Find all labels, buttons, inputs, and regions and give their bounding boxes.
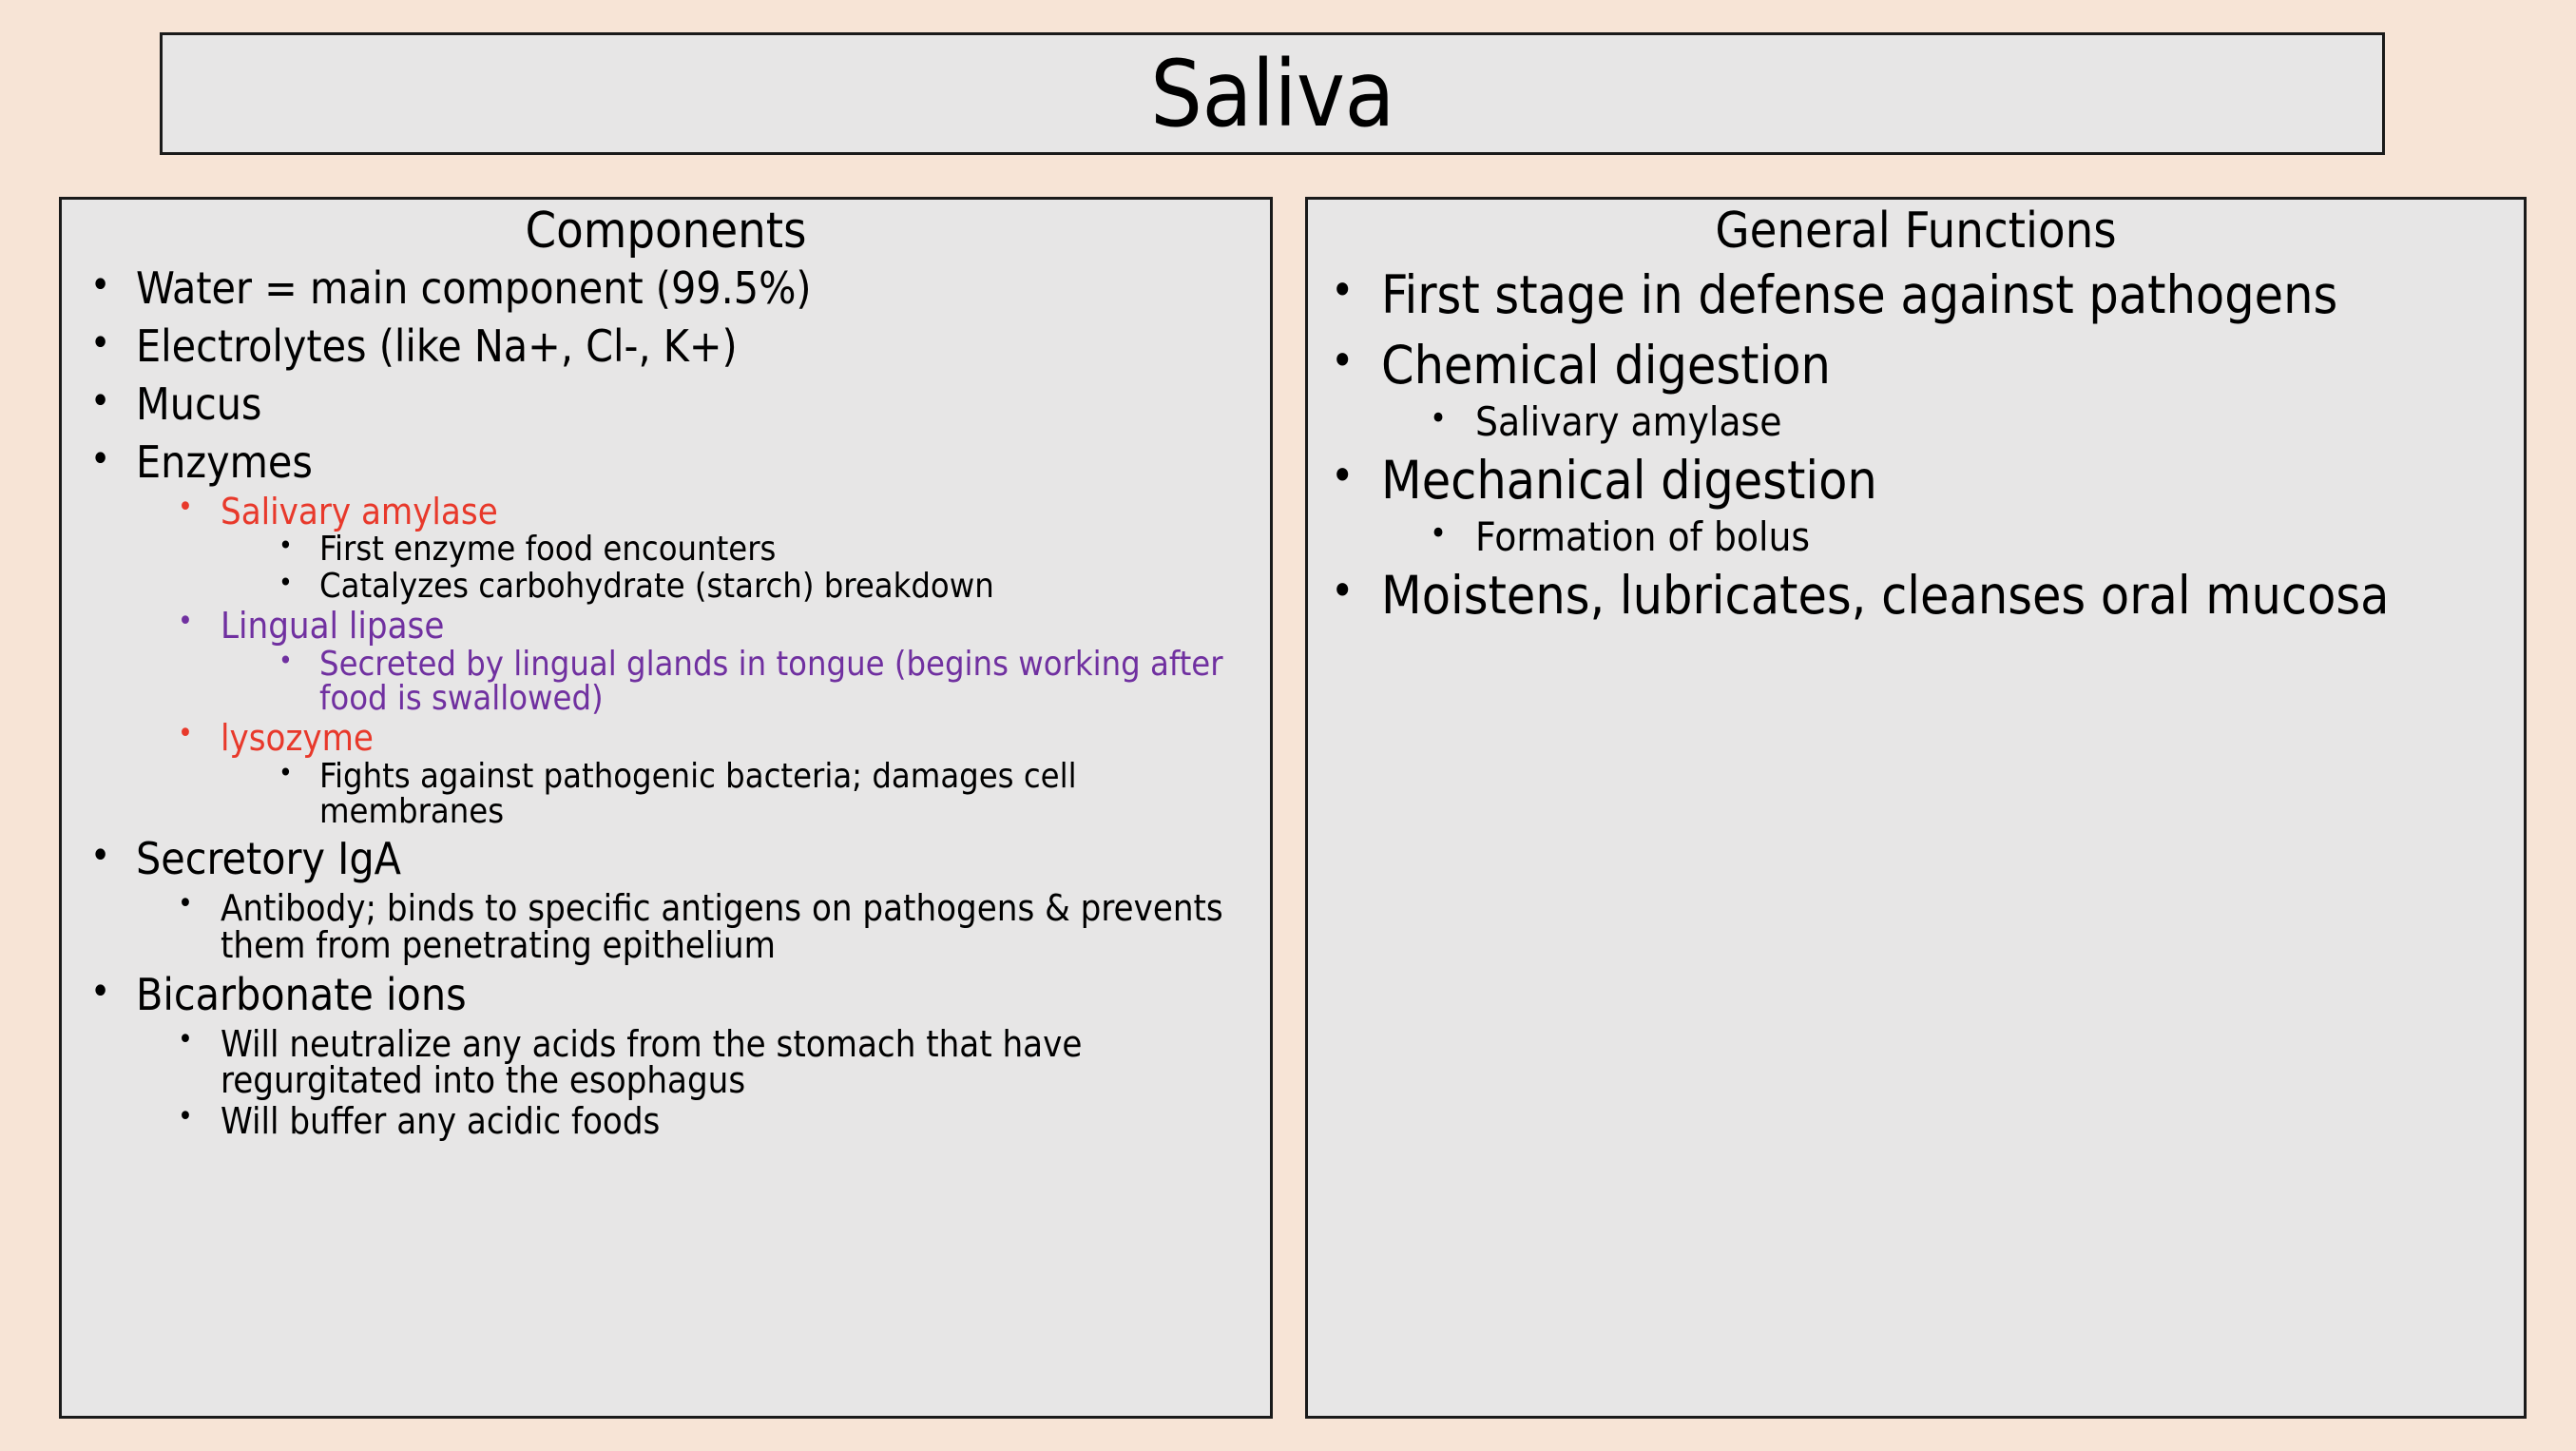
list-item-label: Enzymes — [136, 440, 1257, 485]
list-item: •Enzymes — [90, 434, 1257, 492]
bullet-icon: • — [279, 532, 319, 560]
list-item-label: Salivary amylase — [221, 493, 1257, 531]
bullet-icon: • — [1331, 569, 1381, 613]
list-item-label: Salivary amylase — [1475, 402, 2510, 443]
bullet-icon: • — [178, 890, 221, 919]
components-panel: Components •Water = main component (99.5… — [59, 197, 1273, 1419]
bullet-icon: • — [1331, 339, 1381, 383]
list-item: •Secreted by lingual glands in tongue (b… — [279, 647, 1257, 718]
bullet-icon: • — [1430, 517, 1475, 551]
list-item: •Electrolytes (like Na+, Cl-, K+) — [90, 318, 1257, 376]
list-item-label: Lingual lipase — [221, 608, 1257, 645]
list-item: •Lingual lipase — [178, 606, 1257, 647]
list-item-label: Bicarbonate ions — [136, 973, 1257, 1017]
bullet-icon: • — [1430, 402, 1475, 435]
list-item: •Mechanical digestion — [1331, 445, 2510, 515]
bullet-icon: • — [1331, 454, 1381, 498]
bullet-icon: • — [90, 382, 136, 421]
bullet-icon: • — [1331, 268, 1381, 313]
list-item-label: lysozyme — [221, 720, 1257, 757]
general-functions-bullet-list: •First stage in defense against pathogen… — [1308, 260, 2524, 630]
list-item: •Moistens, lubricates, cleanses oral muc… — [1331, 560, 2510, 630]
list-item-label: Mucus — [136, 382, 1257, 427]
bullet-icon: • — [279, 570, 319, 597]
list-item: •Will neutralize any acids from the stom… — [178, 1024, 1257, 1102]
list-item: •lysozyme — [178, 718, 1257, 759]
list-item: •First stage in defense against pathogen… — [1331, 260, 2510, 330]
list-item-label: Will neutralize any acids from the stoma… — [221, 1026, 1257, 1100]
general-functions-panel: General Functions •First stage in defens… — [1305, 197, 2527, 1419]
general-functions-panel-heading: General Functions — [1308, 205, 2524, 258]
bullet-icon: • — [178, 1103, 221, 1132]
list-item-label: Chemical digestion — [1381, 339, 2510, 392]
list-item: •Chemical digestion — [1331, 330, 2510, 400]
list-item: •First enzyme food encounters — [279, 532, 1257, 569]
list-item-label: Electrolytes (like Na+, Cl-, K+) — [136, 324, 1257, 369]
list-item: •Catalyzes carbohydrate (starch) breakdo… — [279, 569, 1257, 606]
list-item-label: Formation of bolus — [1475, 517, 2510, 558]
list-item-label: Fights against pathogenic bacteria; dama… — [319, 760, 1257, 829]
list-item-label: Catalyzes carbohydrate (starch) breakdow… — [319, 570, 1257, 605]
list-item: •Mucus — [90, 376, 1257, 434]
bullet-icon: • — [90, 837, 136, 876]
list-item: •Water = main component (99.5%) — [90, 260, 1257, 318]
list-item-label: Moistens, lubricates, cleanses oral muco… — [1381, 569, 2510, 622]
bullet-icon: • — [90, 440, 136, 479]
bullet-icon: • — [90, 973, 136, 1012]
list-item-label: Antibody; binds to specific antigens on … — [221, 890, 1257, 964]
bullet-icon: • — [279, 648, 319, 675]
bullet-icon: • — [178, 608, 221, 637]
components-bullet-list: •Water = main component (99.5%)•Electrol… — [62, 260, 1270, 1142]
list-item-label: Water = main component (99.5%) — [136, 266, 1257, 311]
bullet-icon: • — [279, 760, 319, 787]
list-item: •Secretory IgA — [90, 830, 1257, 888]
bullet-icon: • — [178, 493, 221, 523]
bullet-icon: • — [178, 720, 221, 749]
list-item: •Formation of bolus — [1430, 515, 2510, 560]
list-item: •Fights against pathogenic bacteria; dam… — [279, 759, 1257, 830]
list-item: •Salivary amylase — [1430, 400, 2510, 445]
list-item-label: First stage in defense against pathogens — [1381, 268, 2510, 321]
bullet-icon: • — [90, 324, 136, 363]
components-panel-heading: Components — [62, 205, 1270, 258]
list-item: •Antibody; binds to specific antigens on… — [178, 888, 1257, 966]
list-item-label: First enzyme food encounters — [319, 532, 1257, 568]
list-item: •Will buffer any acidic foods — [178, 1101, 1257, 1142]
list-item: •Bicarbonate ions — [90, 966, 1257, 1024]
bullet-icon: • — [178, 1026, 221, 1055]
slide-title-box: Saliva — [160, 32, 2385, 155]
list-item-label: Mechanical digestion — [1381, 454, 2510, 507]
list-item-label: Will buffer any acidic foods — [221, 1103, 1257, 1140]
list-item: •Salivary amylase — [178, 492, 1257, 532]
list-item-label: Secreted by lingual glands in tongue (be… — [319, 648, 1257, 717]
page-title: Saliva — [1150, 48, 1394, 140]
list-item-label: Secretory IgA — [136, 837, 1257, 881]
bullet-icon: • — [90, 266, 136, 305]
